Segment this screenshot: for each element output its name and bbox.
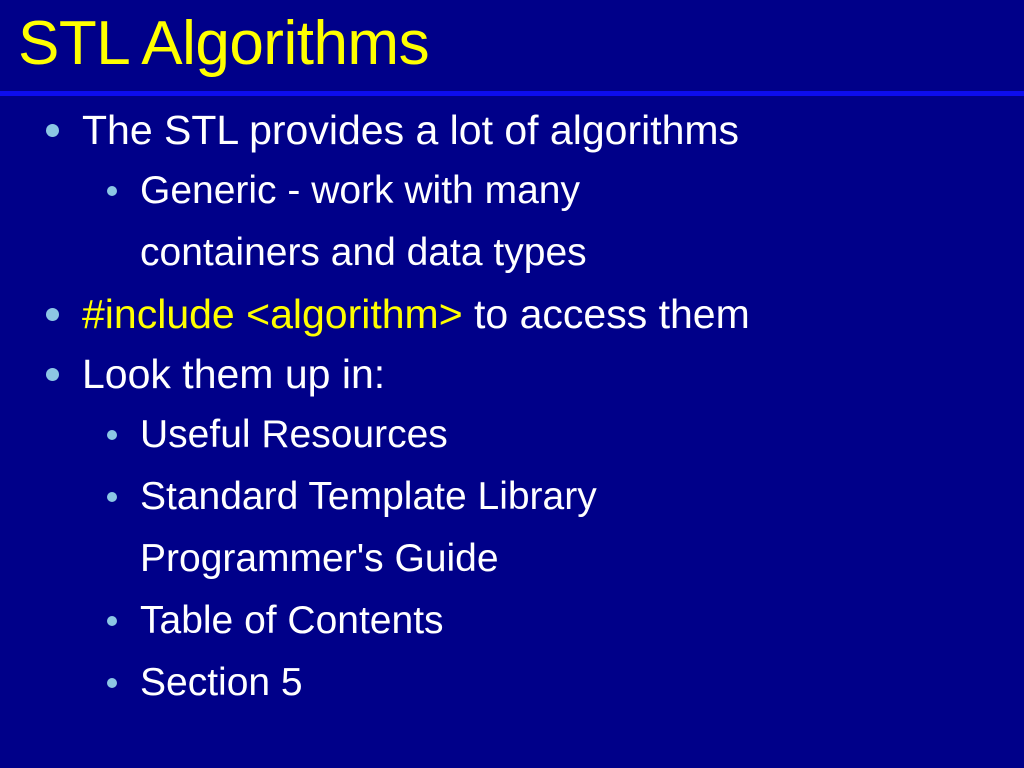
list-item: Section 5	[0, 652, 1024, 714]
list-item-label: Generic - work with many containers and …	[140, 160, 1024, 284]
list-item: The STL provides a lot of algorithms	[0, 100, 1024, 160]
title-divider-rule	[0, 91, 1024, 96]
list-item-line: Section 5	[140, 652, 1024, 714]
list-item-label: Useful Resources	[140, 404, 1024, 466]
bullet-dot-icon	[107, 678, 117, 688]
list-item-label: #include <algorithm> to access them	[82, 284, 1024, 344]
list-item: Standard Template Library Programmer's G…	[0, 466, 1024, 590]
bullet-dot-icon	[46, 308, 59, 321]
list-item-line: Standard Template Library	[140, 466, 1024, 528]
bullet-dot-icon	[107, 430, 117, 440]
list-item-label: Section 5	[140, 652, 1024, 714]
list-item-line: Programmer's Guide	[140, 528, 1024, 590]
include-directive-tail: to access them	[463, 291, 750, 337]
list-item-label: Table of Contents	[140, 590, 1024, 652]
bullet-dot-icon	[46, 368, 59, 381]
list-item-label: Look them up in:	[82, 344, 1024, 404]
slide-body: The STL provides a lot of algorithms Gen…	[0, 100, 1024, 768]
list-item-line: containers and data types	[140, 222, 1024, 284]
list-item: Table of Contents	[0, 590, 1024, 652]
list-item-line: Useful Resources	[140, 404, 1024, 466]
bullet-dot-icon	[107, 186, 117, 196]
list-item: Generic - work with many containers and …	[0, 160, 1024, 284]
list-item-line: Table of Contents	[140, 590, 1024, 652]
presentation-slide: STL Algorithms The STL provides a lot of…	[0, 0, 1024, 768]
list-item-label: Standard Template Library Programmer's G…	[140, 466, 1024, 590]
list-item: #include <algorithm> to access them	[0, 284, 1024, 344]
list-item-line: Generic - work with many	[140, 160, 1024, 222]
page-title: STL Algorithms	[18, 6, 429, 82]
bullet-dot-icon	[107, 616, 117, 626]
bullet-dot-icon	[46, 124, 59, 137]
list-item: Useful Resources	[0, 404, 1024, 466]
bullet-dot-icon	[107, 492, 117, 502]
list-item: Look them up in:	[0, 344, 1024, 404]
slide-title-band: STL Algorithms	[0, 0, 1024, 92]
include-directive-code: #include <algorithm>	[82, 291, 463, 337]
list-item-label: The STL provides a lot of algorithms	[82, 100, 1024, 160]
